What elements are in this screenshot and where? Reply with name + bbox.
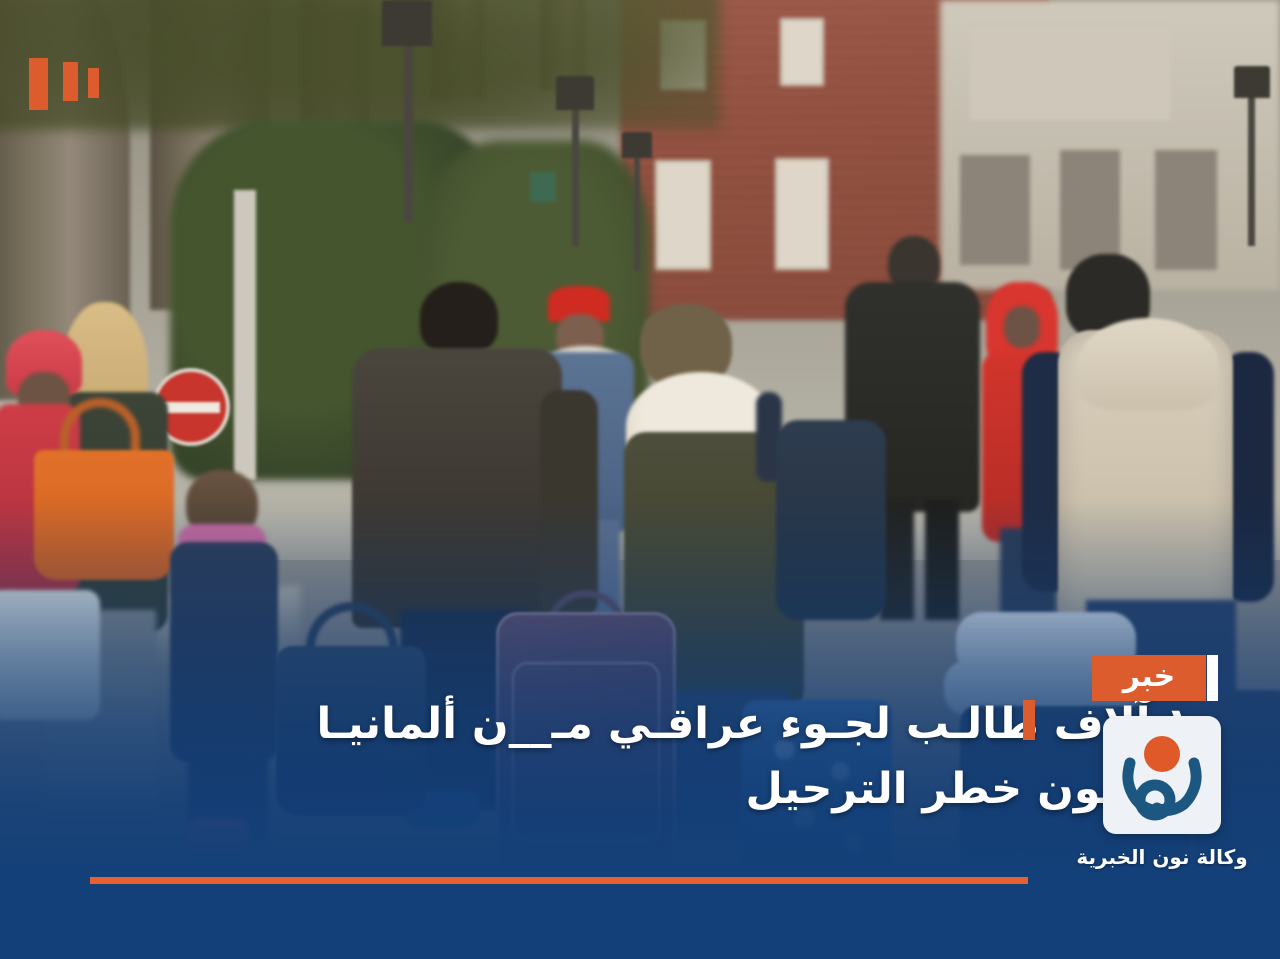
orange-separator-rule [90,877,1028,884]
badge-white-bar [1207,655,1218,701]
street-lamp-head [382,0,432,46]
news-card: ١٠ آلاف طالـب لجـوء عراقـي مـ__ن ألمانيـ… [0,0,1280,959]
person-figure [420,282,498,354]
brand-bar-3 [88,68,99,98]
backpack [776,420,886,620]
child-figure [186,818,250,852]
brand-bar-2 [63,62,78,101]
person-figure [1004,306,1040,348]
noon-agency-logo-icon [1103,716,1221,834]
building-window [960,155,1030,265]
headline-line-2: يواجهون خطر الترحيل [258,757,1218,822]
beige-vest-hood [1078,318,1218,410]
building-facade [970,28,1170,120]
building-window [1060,150,1120,270]
street-lamp-pole [572,96,579,246]
person-figure [925,500,959,620]
person-figure [540,390,598,620]
headline-line-1: ١٠ آلاف طالـب لجـوء عراقـي مـ__ن ألمانيـ… [258,692,1218,757]
building-window [780,18,824,86]
orange-handbag [34,450,174,580]
agency-name: وكالة نون الخبرية [1042,845,1280,869]
street-lamp-head [1234,66,1270,98]
headline-accent-tick [1023,700,1035,740]
headline: ١٠ آلاف طالـب لجـوء عراقـي مـ__ن ألمانيـ… [258,692,1218,823]
street-lamp-head [622,132,652,158]
person-figure [352,348,562,628]
three-bars-icon [0,0,140,130]
sign-post [234,190,256,480]
street-lamp-pole [404,22,413,222]
green-sign [530,172,556,202]
building-window [1155,150,1217,270]
plastic-bag [0,590,100,720]
news-badge: خبر [1092,655,1206,701]
street-lamp-pole [634,150,640,270]
building-window [775,158,829,270]
brand-bar-1 [29,58,48,110]
news-badge-label: خبر [1123,662,1176,692]
street-lamp-head [556,76,594,110]
street-lamp-pole [1248,86,1255,246]
building-window [655,160,711,270]
